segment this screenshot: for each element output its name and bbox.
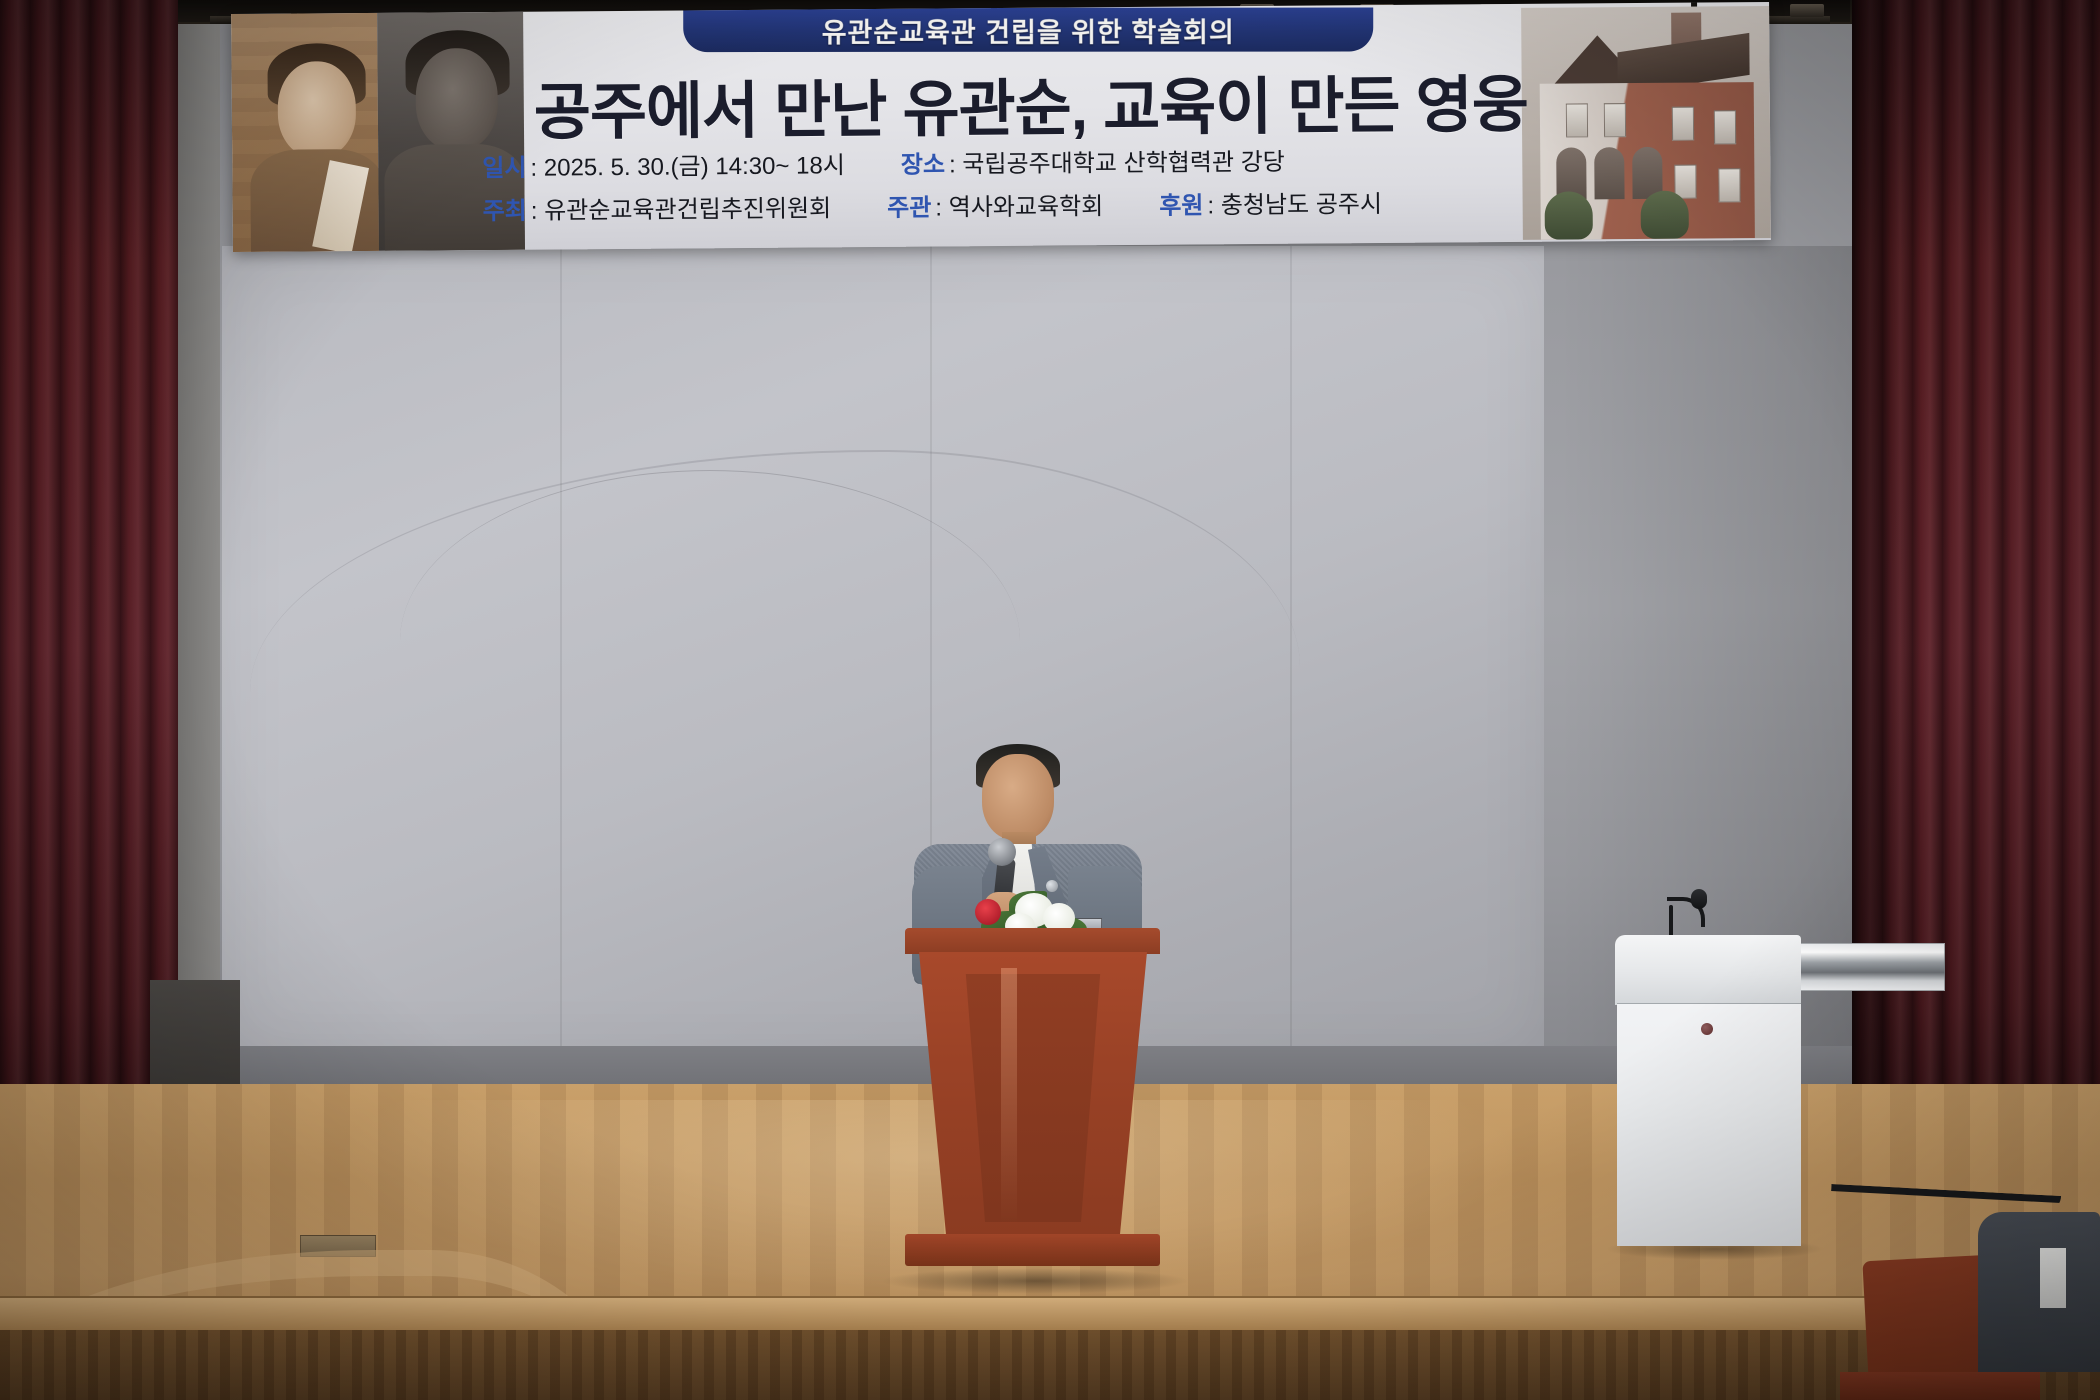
banner-main-title: 공주에서 만난 유관순, 교육이 만든 영웅: [485, 53, 1576, 152]
banner-value-organizer: : 역사와교육학회: [935, 186, 1103, 222]
banner-value-sponsor: : 충청남도 공주시: [1207, 184, 1382, 220]
av-lectern-cabinet: [1617, 1003, 1801, 1246]
banner-value-host: : 유관순교육관건립추진위원회: [531, 188, 832, 225]
banner-value-date: : 2025. 5. 30.(금) 14:30~ 18시: [530, 145, 845, 182]
microphone-head-icon: [988, 838, 1016, 866]
banner-row-datetime: 일시 : 2025. 5. 30.(금) 14:30~ 18시 장소 : 국립공…: [482, 139, 1602, 183]
building-window: [1718, 168, 1740, 202]
banner-venue-text: 국립공주대학교 산학협력관 강당: [962, 149, 1285, 179]
event-banner: 유관순교육관 건립을 위한 학술회의 공주에서 만난 유관순, 교육이 만든 영…: [231, 2, 1771, 252]
building-shrub: [1641, 191, 1689, 239]
podium-top-surface: [905, 928, 1160, 954]
banner-date-text: 2025. 5. 30.(금) 14:30~ 18시: [544, 152, 845, 181]
portrait-yu-gwansun-sepia: [231, 13, 379, 252]
seated-person-suit: [1978, 1212, 2100, 1372]
banner-label-sponsor: 후원: [1159, 185, 1203, 220]
red-rose: [975, 899, 1001, 925]
pull-out-tray[interactable]: [1799, 943, 1945, 991]
portrait-face: [277, 61, 356, 158]
podium-highlight: [1001, 968, 1017, 1226]
speaker-head: [982, 754, 1054, 840]
av-lectern-top: [1615, 935, 1801, 1005]
banner-portrait-group: [231, 12, 525, 252]
building-window: [1672, 107, 1694, 141]
banner-sponsor-text: 충청남도 공주시: [1221, 191, 1382, 219]
banner-label-venue: 장소: [901, 144, 945, 179]
banner-subtitle-strip: 유관순교육관 건립을 위한 학술회의: [683, 7, 1373, 52]
banner-detail-lines: 일시 : 2025. 5. 30.(금) 14:30~ 18시 장소 : 국립공…: [482, 139, 1603, 234]
ceiling-lamp-icon: [1790, 4, 1824, 17]
podium-base: [905, 1234, 1160, 1266]
banner-organizer-text: 역사와교육학회: [949, 193, 1104, 221]
lock-icon[interactable]: [1701, 1023, 1713, 1035]
seated-person-shirt: [2040, 1248, 2066, 1308]
wooden-podium: [905, 928, 1160, 1280]
building-window: [1714, 110, 1736, 144]
stage-photograph: 유관순교육관 건립을 위한 학술회의 공주에서 만난 유관순, 교육이 만든 영…: [0, 0, 2100, 1400]
banner-label-organizer: 주관: [887, 188, 931, 223]
banner-label-host: 주최: [482, 191, 526, 226]
banner-value-venue: : 국립공주대학교 산학협력관 강당: [949, 142, 1285, 180]
banner-row-organizers: 주최 : 유관순교육관건립추진위원회 주관 : 역사와교육학회 후원 : 충청남…: [482, 182, 1602, 226]
building-window: [1604, 103, 1626, 137]
banner-subtitle-text: 유관순교육관 건립을 위한 학술회의: [822, 10, 1235, 49]
stage-front-panel: [0, 1330, 2100, 1400]
banner-host-text: 유관순교육관건립추진위원회: [544, 195, 831, 224]
banner-label-date: 일시: [482, 148, 526, 183]
chair-seat: [1840, 1372, 2040, 1400]
microphone-capsule-icon: [1691, 889, 1707, 909]
stage-front-edge: [0, 1296, 2100, 1334]
